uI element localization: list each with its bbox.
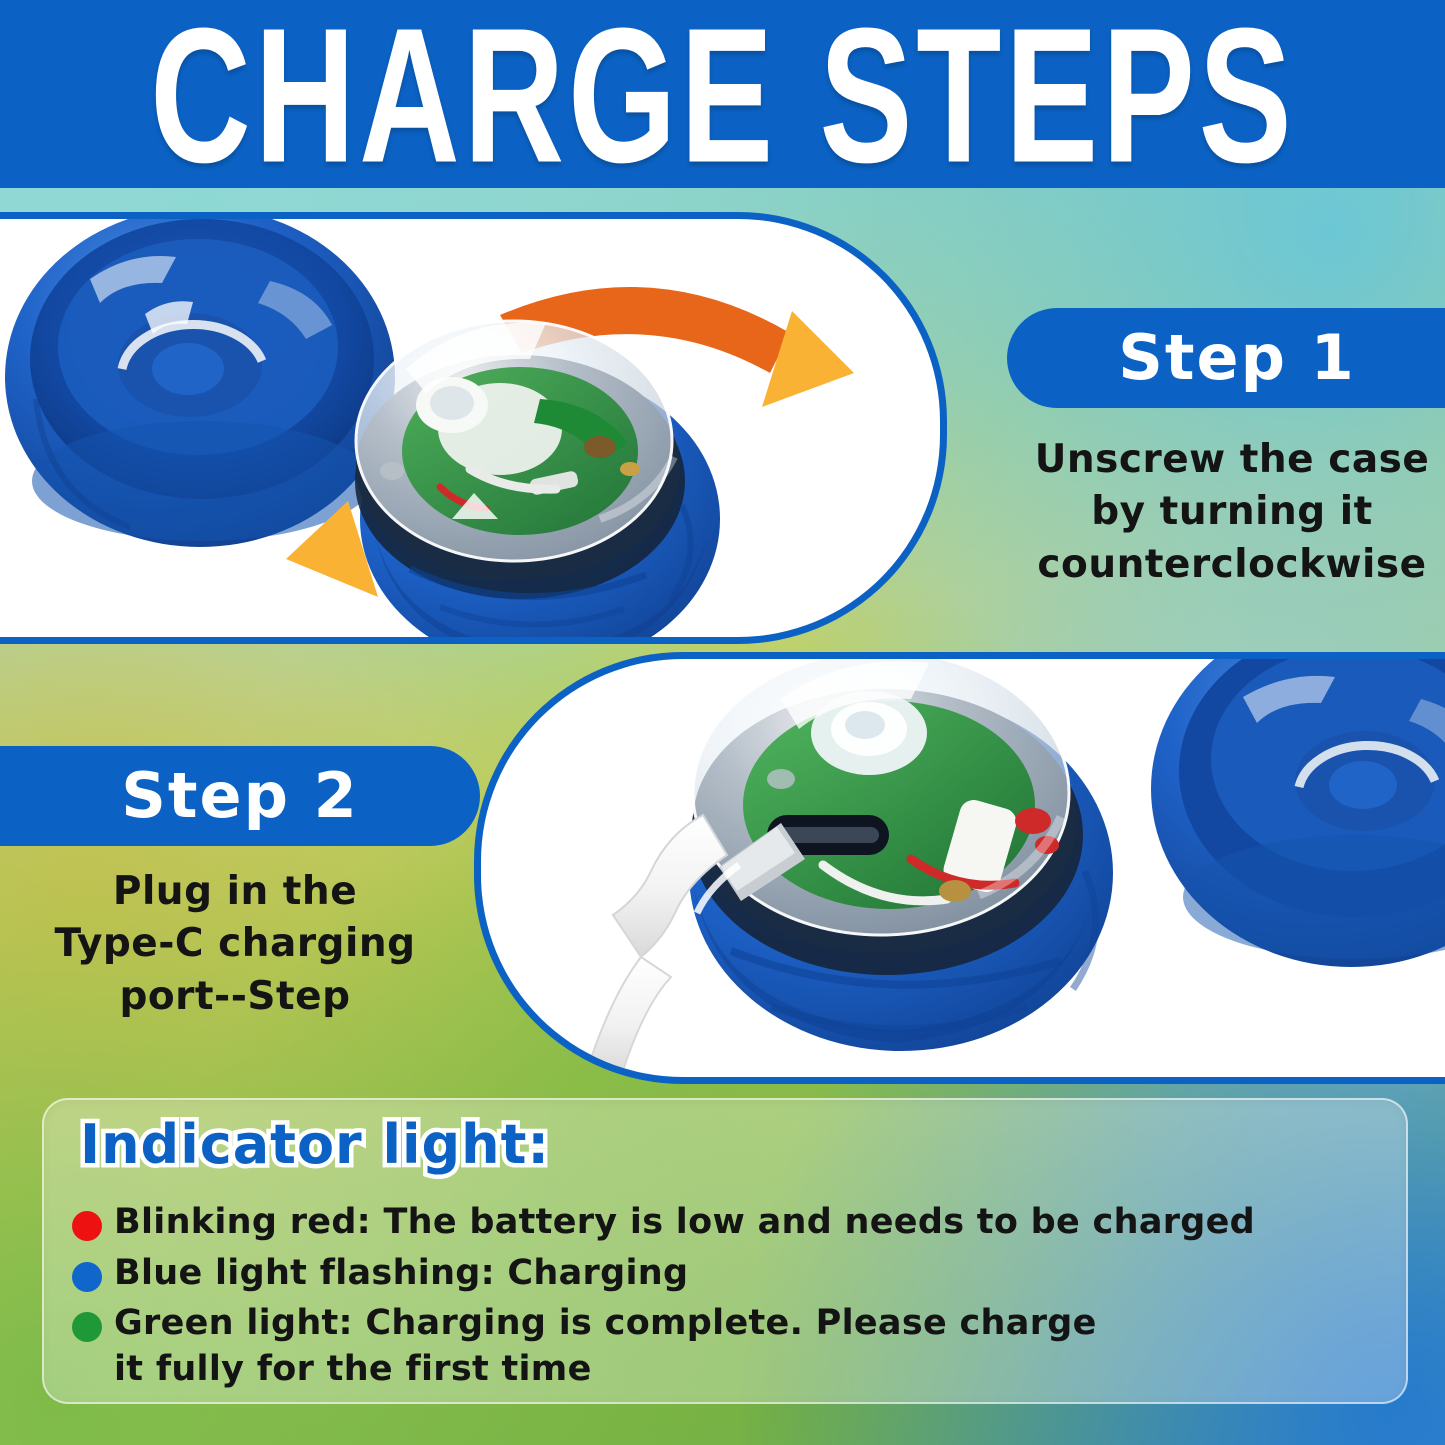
red-light-dot: [72, 1211, 102, 1241]
ball-shell-half-right: [1151, 659, 1445, 967]
indicator-list: Blinking red: The battery is low and nee…: [72, 1200, 1382, 1397]
step-2-photo-card: [474, 652, 1445, 1084]
step-1-text: Unscrew the case by turning it countercl…: [1012, 434, 1445, 591]
indicator-item-label: Blue light flashing: Charging: [114, 1251, 688, 1297]
step-1-photo: [0, 219, 940, 637]
indicator-light-panel: Indicator light: Blinking red: The batte…: [42, 1098, 1408, 1404]
step-1-photo-card: [0, 212, 947, 644]
page-title: CHARGE STEPS: [150, 0, 1295, 188]
indicator-item-label: Blinking red: The battery is low and nee…: [114, 1200, 1255, 1246]
list-item: Green light: Charging is complete. Pleas…: [72, 1301, 1382, 1392]
list-item: Blue light flashing: Charging: [72, 1251, 1382, 1297]
step-1-label: Step 1: [1118, 327, 1355, 389]
step-2-text: Plug in the Type-C charging port--Step: [10, 866, 460, 1023]
title-banner: CHARGE STEPS: [0, 0, 1445, 188]
step-1-pill: Step 1: [1007, 308, 1445, 408]
step-2-photo: [481, 659, 1445, 1077]
ball-shell-half: [5, 219, 395, 547]
step-2-pill: Step 2: [0, 746, 480, 846]
electronics-module: [355, 321, 720, 637]
list-item: Blinking red: The battery is low and nee…: [72, 1200, 1382, 1246]
indicator-item-label: Green light: Charging is complete. Pleas…: [114, 1301, 1097, 1392]
blue-light-dot: [72, 1262, 102, 1292]
green-light-dot: [72, 1312, 102, 1342]
infographic-page: CHARGE STEPS: [0, 0, 1445, 1445]
indicator-title: Indicator light:: [80, 1118, 550, 1172]
step-2-label: Step 2: [121, 765, 358, 827]
